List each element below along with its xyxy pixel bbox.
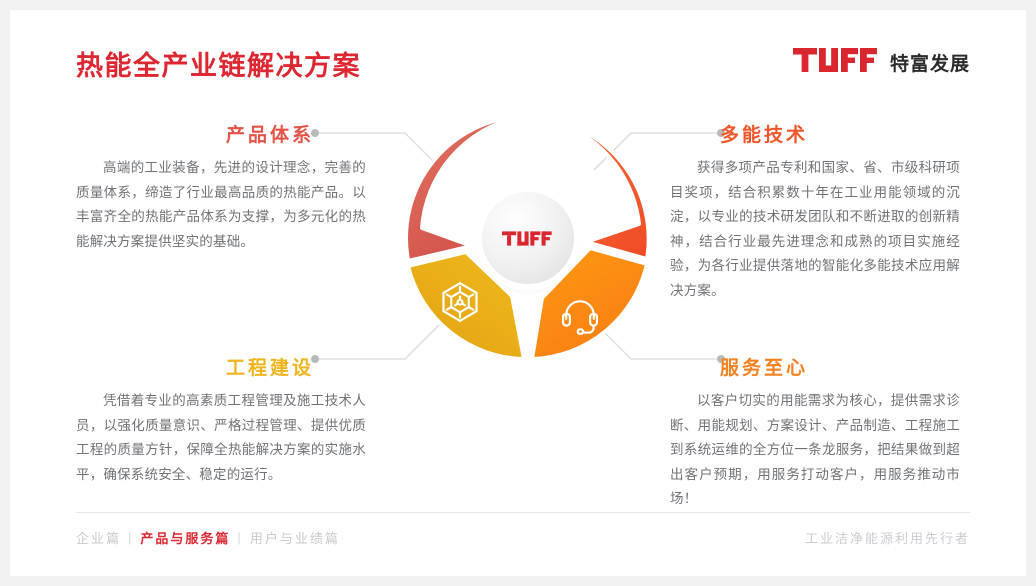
footer-nav: 企业篇 | 产品与服务篇 | 用户与业绩篇 bbox=[76, 528, 340, 547]
quadrant-heading-service: 服务至心 bbox=[670, 353, 960, 380]
quadrant-body-service: 以客户切实的用能需求为核心，提供需求诊断、用能规划、方案设计、产品制造、工程施工… bbox=[670, 389, 960, 512]
cube-box-icon bbox=[438, 280, 482, 324]
tuff-hub-logo-icon bbox=[502, 231, 554, 246]
footer-separator-2: | bbox=[237, 530, 242, 545]
page-title: 热能全产业链解决方案 bbox=[76, 44, 361, 83]
quadrant-heading-product: 产品体系 bbox=[76, 120, 366, 147]
brand-name: 特富发展 bbox=[890, 49, 970, 76]
quadrant-body-engineer: 凭借着专业的高素质工程管理及施工技术人员，以强化质量意识、严格过程管理、提供优质… bbox=[76, 389, 366, 487]
quadrant-multi-tech: 多能技术 获得多项产品专利和国家、省、市级科研项目奖项，结合积累数十年在工业用能… bbox=[670, 120, 960, 303]
slide-header: 热能全产业链解决方案 bbox=[10, 10, 1026, 88]
quadrant-body-tech: 获得多项产品专利和国家、省、市级科研项目奖项，结合积累数十年在工业用能领域的沉淀… bbox=[670, 156, 960, 303]
quadrant-service: 服务至心 以客户切实的用能需求为核心，提供需求诊断、用能规划、方案设计、产品制造… bbox=[670, 353, 960, 512]
wheel-hub bbox=[482, 192, 574, 284]
brand-logo: 特富发展 bbox=[793, 48, 970, 77]
footer-divider bbox=[76, 512, 970, 513]
footer-tab-company[interactable]: 企业篇 bbox=[76, 528, 121, 547]
footer-tab-products-services[interactable]: 产品与服务篇 bbox=[140, 528, 230, 547]
footer-tagline: 工业洁净能源利用先行者 bbox=[805, 528, 970, 547]
cloud-network-icon bbox=[564, 172, 608, 216]
footer-tab-users-performance[interactable]: 用户与业绩篇 bbox=[250, 528, 340, 547]
footer-separator-1: | bbox=[128, 530, 133, 545]
capability-wheel bbox=[406, 116, 650, 360]
slide-canvas: 热能全产业链解决方案 bbox=[10, 10, 1026, 576]
quadrant-heading-tech: 多能技术 bbox=[670, 120, 960, 147]
quadrant-body-product: 高端的工业装备，先进的设计理念，完善的质量体系，缔造了行业最高品质的热能产品。以… bbox=[76, 156, 366, 254]
tuff-logo-icon bbox=[793, 48, 881, 77]
quadrant-engineering: 工程建设 凭借着专业的高素质工程管理及施工技术人员，以强化质量意识、严格过程管理… bbox=[76, 353, 366, 487]
quadrant-heading-engineer: 工程建设 bbox=[76, 353, 366, 380]
quadrant-product-system: 产品体系 高端的工业装备，先进的设计理念，完善的质量体系，缔造了行业最高品质的热… bbox=[76, 120, 366, 254]
folder-share-icon bbox=[446, 160, 490, 204]
headset-icon bbox=[558, 294, 602, 338]
slide-footer: 企业篇 | 产品与服务篇 | 用户与业绩篇 工业洁净能源利用先行者 bbox=[10, 524, 1026, 550]
